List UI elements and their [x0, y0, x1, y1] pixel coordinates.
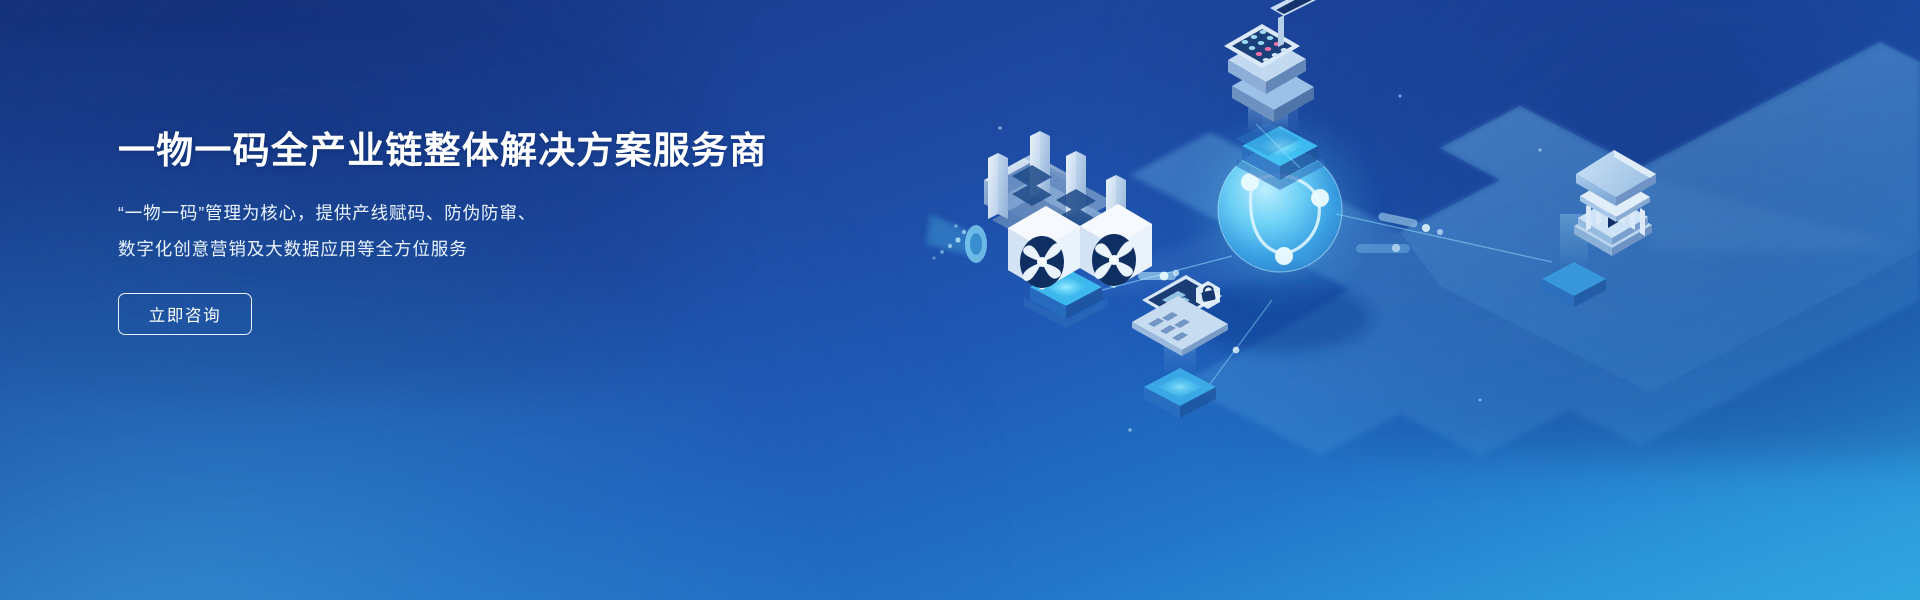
page-title: 一物一码全产业链整体解决方案服务商 — [118, 128, 818, 174]
data-dashes-right — [1356, 244, 1410, 253]
scan-beam — [926, 214, 987, 263]
hero-illustration — [880, 0, 1920, 600]
consult-now-button[interactable]: 立即咨询 — [118, 293, 252, 335]
subtitle-line-1: “一物一码”管理为核心，提供产线赋码、防伪防窜、 — [118, 196, 818, 231]
server-rack — [926, 131, 1152, 290]
hero-banner: 一物一码全产业链整体解决方案服务商 “一物一码”管理为核心，提供产线赋码、防伪防… — [0, 0, 1920, 600]
subtitle-line-2: 数字化创意营销及大数据应用等全方位服务 — [118, 232, 818, 267]
cta-container: 立即咨询 — [118, 293, 818, 335]
hero-text-column: 一物一码全产业链整体解决方案服务商 “一物一码”管理为核心，提供产线赋码、防伪防… — [118, 128, 818, 335]
